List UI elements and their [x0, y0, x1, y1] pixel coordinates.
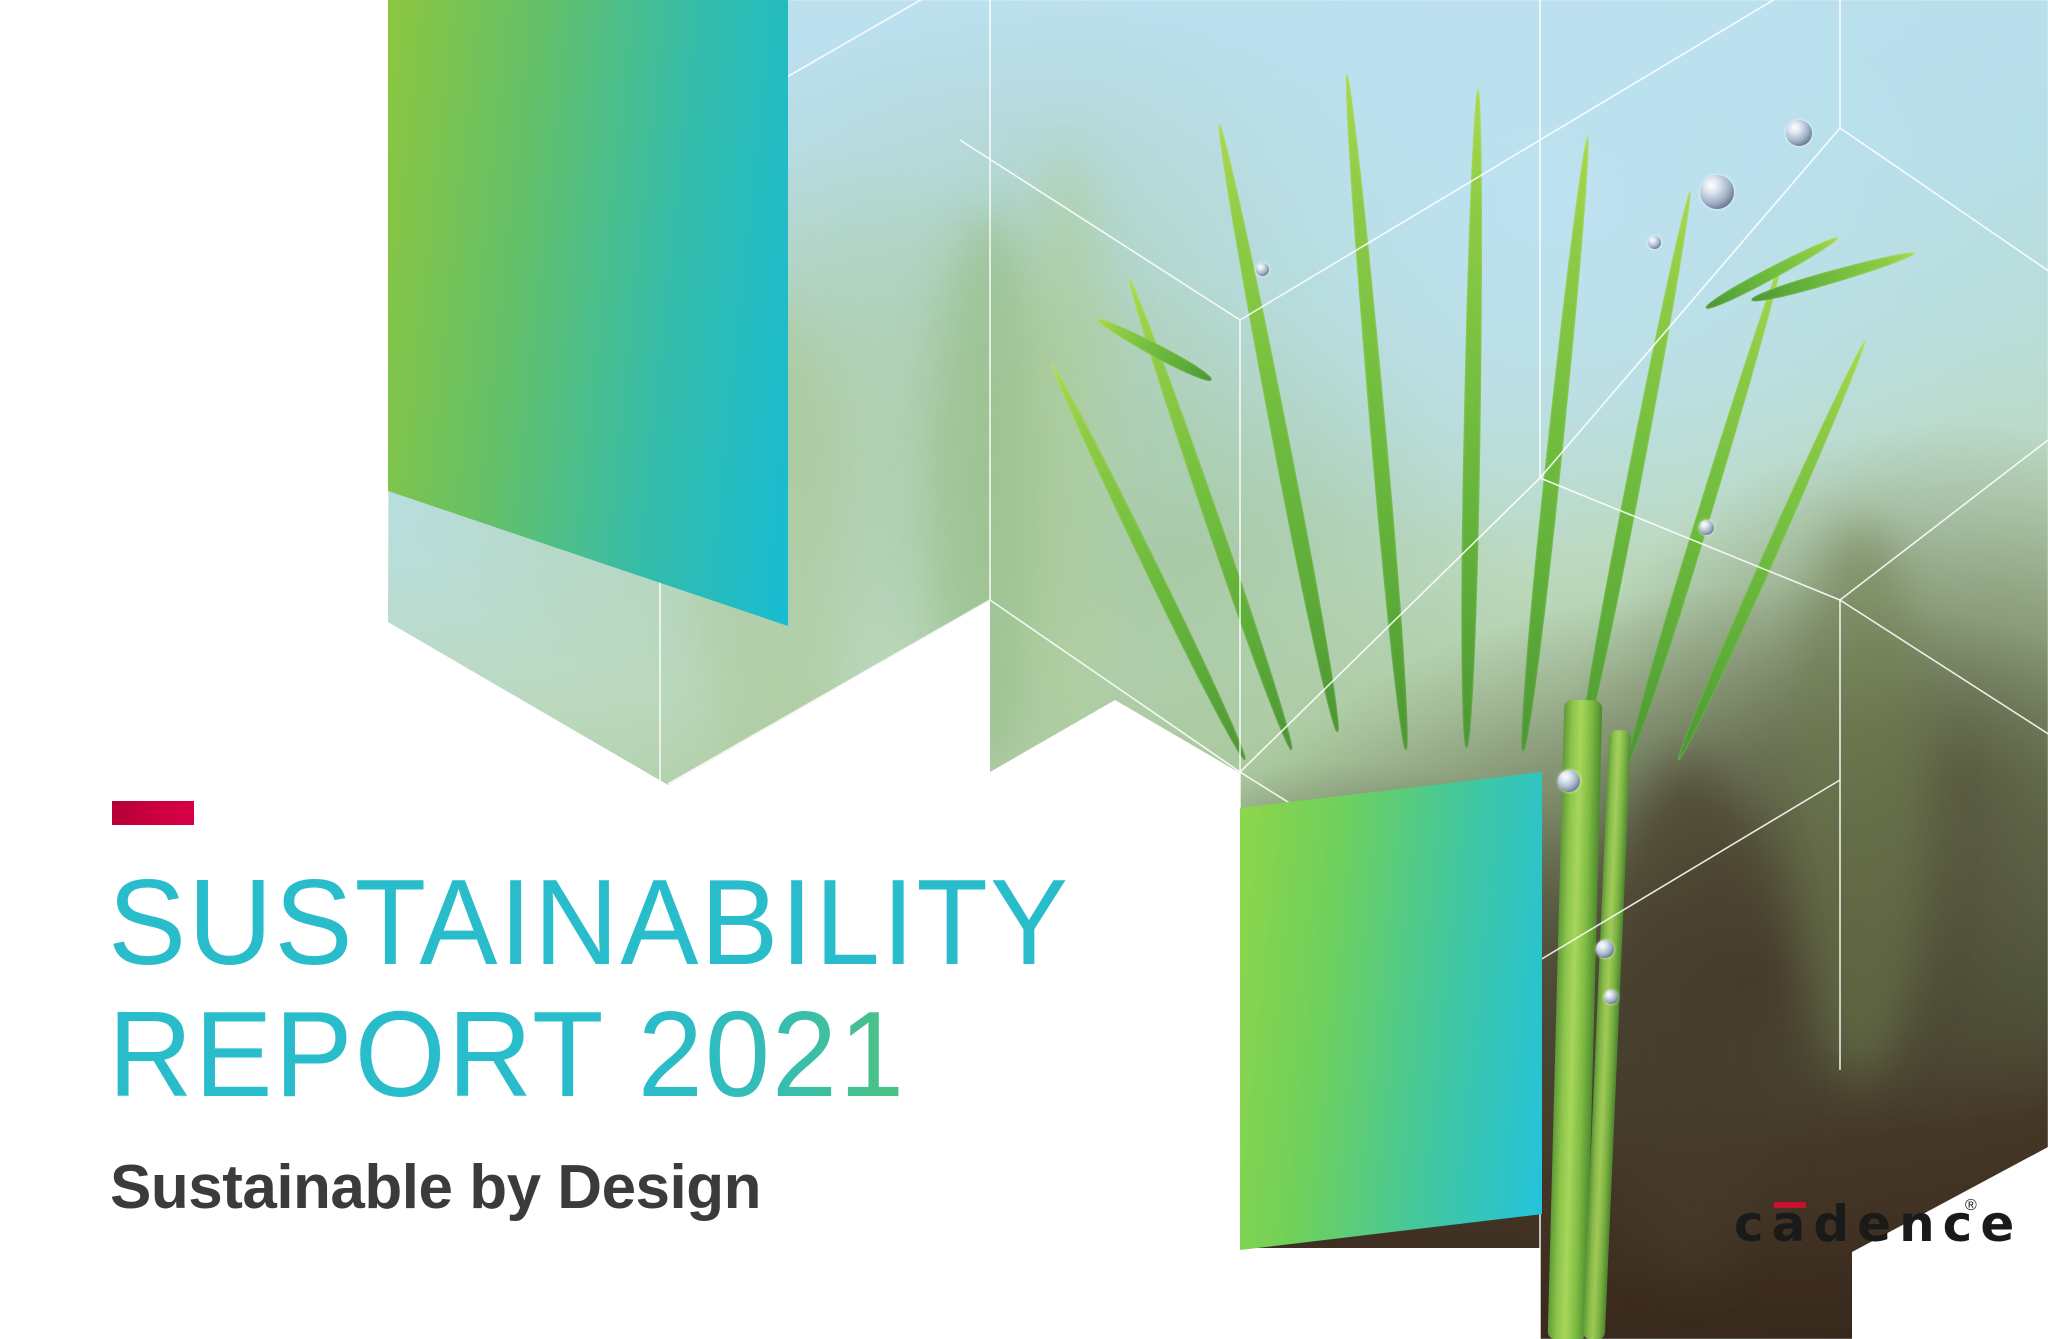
dew-droplet [1648, 236, 1661, 249]
dew-droplet [1786, 120, 1812, 146]
subtitle: Sustainable by Design [110, 1152, 761, 1223]
accent-bar [112, 801, 194, 825]
dew-droplet [1604, 990, 1618, 1004]
dew-droplet [1596, 940, 1614, 958]
seedling-photograph [0, 0, 2048, 1339]
dew-droplet [1558, 770, 1580, 792]
title-line-sustainability: SUSTAINABILITY [108, 856, 1183, 988]
gradient-panel-bottom [1240, 772, 1542, 1250]
cadence-macron-icon [1774, 1202, 1806, 1208]
cadence-logo: cadence ® [1734, 1196, 2022, 1258]
dew-droplet [1256, 263, 1269, 276]
page-title: SUSTAINABILITY REPORT 2021 [108, 856, 1228, 1120]
cover-photo-collage [0, 0, 2048, 1339]
dew-droplet [1700, 175, 1734, 209]
bokeh-streak [1790, 520, 1930, 1080]
title-line-report-year: REPORT 2021 [108, 988, 1183, 1120]
dew-droplet [1699, 520, 1714, 535]
registered-trademark-icon: ® [1965, 1198, 1977, 1214]
report-cover: SUSTAINABILITY REPORT 2021 Sustainable b… [0, 0, 2048, 1339]
